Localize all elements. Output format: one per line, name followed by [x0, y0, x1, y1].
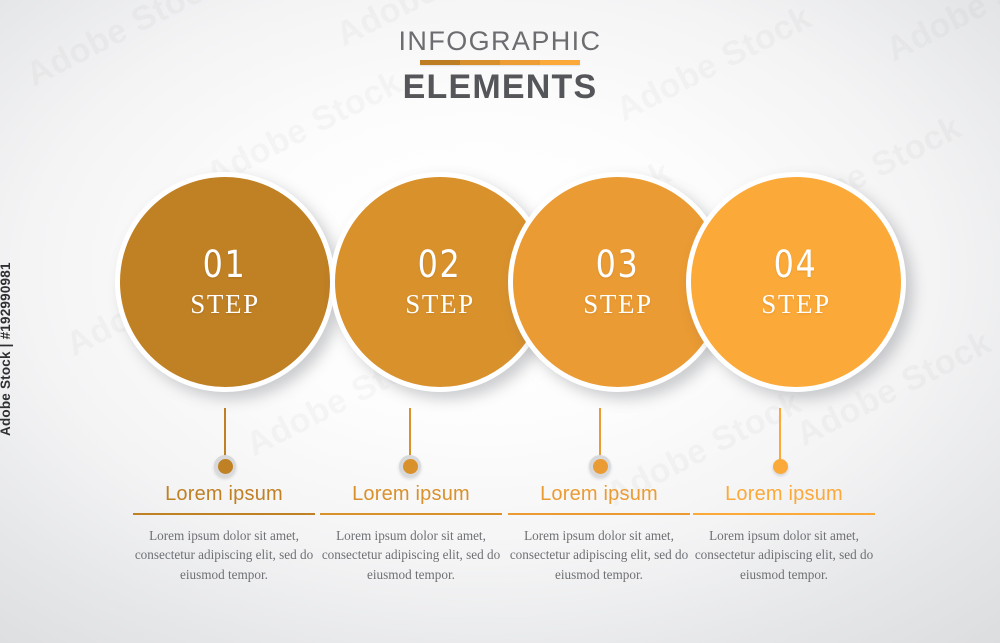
step-number: 01: [203, 245, 247, 285]
title-line-1: INFOGRAPHIC: [0, 26, 1000, 56]
step-number: 02: [418, 245, 462, 285]
connector-dot-04: [773, 459, 788, 474]
column-body-text: Lorem ipsum dolor sit amet, consectetur …: [693, 526, 875, 585]
title-bar-segment-2: [460, 60, 500, 65]
connector-dot-02: [403, 459, 418, 474]
text-column-02: Lorem ipsum Lorem ipsum dolor sit amet, …: [320, 482, 502, 584]
title-line-2: ELEMENTS: [0, 68, 1000, 106]
column-rule: [693, 513, 875, 515]
title-gradient-bar: [420, 60, 580, 65]
title-bar-segment-4: [540, 60, 580, 65]
text-column-03: Lorem ipsum Lorem ipsum dolor sit amet, …: [508, 482, 690, 584]
column-rule: [320, 513, 502, 515]
connector-dot-01: [218, 459, 233, 474]
column-body-text: Lorem ipsum dolor sit amet, consectetur …: [320, 526, 502, 585]
step-label: STEP: [761, 289, 830, 319]
step-number: 04: [774, 245, 818, 285]
text-column-01: Lorem ipsum Lorem ipsum dolor sit amet, …: [133, 482, 315, 584]
text-column-04: Lorem ipsum Lorem ipsum dolor sit amet, …: [693, 482, 875, 584]
adobe-stock-credit: Adobe Stock | #192990981: [0, 206, 13, 436]
step-circle-04[interactable]: 04 STEP: [686, 172, 906, 392]
column-body-text: Lorem ipsum dolor sit amet, consectetur …: [508, 526, 690, 585]
title-bar-segment-3: [500, 60, 540, 65]
step-circle-01[interactable]: 01 STEP: [115, 172, 335, 392]
connector-line-04: [779, 408, 781, 466]
column-rule: [133, 513, 315, 515]
column-heading: Lorem ipsum: [320, 482, 502, 506]
column-body-text: Lorem ipsum dolor sit amet, consectetur …: [133, 526, 315, 585]
connector-dot-03: [593, 459, 608, 474]
step-label: STEP: [405, 289, 474, 319]
title-block: INFOGRAPHIC ELEMENTS: [0, 26, 1000, 106]
infographic-canvas: Adobe StockAdobe StockAdobe StockAdobe S…: [0, 0, 1000, 643]
step-label: STEP: [583, 289, 652, 319]
title-bar-segment-1: [420, 60, 460, 65]
column-rule: [508, 513, 690, 515]
column-heading: Lorem ipsum: [693, 482, 875, 506]
column-heading: Lorem ipsum: [133, 482, 315, 506]
step-label: STEP: [190, 289, 259, 319]
column-heading: Lorem ipsum: [508, 482, 690, 506]
step-number: 03: [596, 245, 640, 285]
